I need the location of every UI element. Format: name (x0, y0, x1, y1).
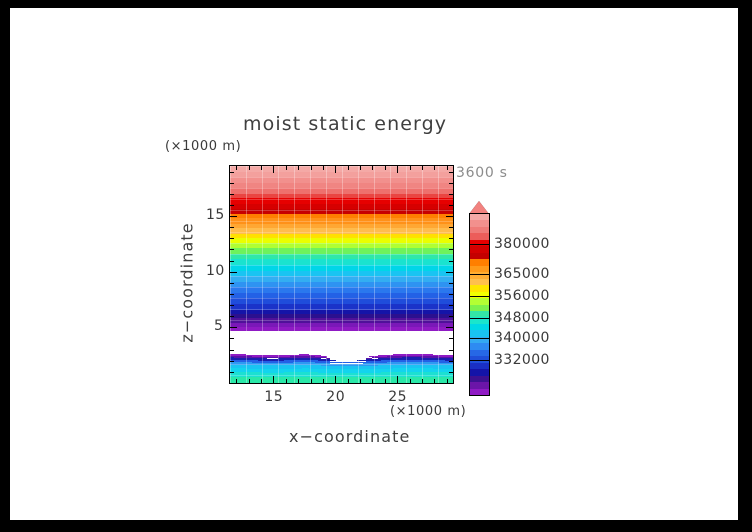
y-axis-tick (230, 372, 234, 373)
x-axis-tick (434, 166, 435, 170)
x-axis-tick (249, 379, 250, 383)
x-axis-tick (422, 379, 423, 383)
colorbar-divider (469, 360, 490, 361)
x-tick-label: 20 (326, 389, 345, 405)
colorbar-tick-label: 340000 (494, 330, 550, 346)
x-axis-tick (286, 379, 287, 383)
y-axis-title: z−coordinate (178, 222, 197, 342)
y-axis-tick (449, 205, 453, 206)
y-axis-tick (449, 372, 453, 373)
y-axis-tick (446, 272, 453, 273)
y-axis-tick (230, 350, 234, 351)
timestamp-annotation: 3600 s (456, 165, 508, 181)
x-axis-tick (385, 166, 386, 170)
y-axis-tick (230, 238, 234, 239)
x-axis-tick (410, 166, 411, 170)
y-axis-tick (449, 249, 453, 250)
figure-frame: moist static energy (×1000 m) (×1000 m) … (0, 0, 752, 532)
y-axis-tick (449, 183, 453, 184)
y-axis-tick (449, 383, 453, 384)
y-axis-tick (449, 172, 453, 173)
y-axis-tick (449, 227, 453, 228)
y-axis-tick (230, 261, 234, 262)
y-axis-tick (446, 327, 453, 328)
x-axis-tick (273, 166, 274, 173)
x-axis-tick (311, 379, 312, 383)
x-axis-tick (249, 166, 250, 170)
y-axis-tick (230, 283, 234, 284)
x-axis-tick (360, 379, 361, 383)
x-tick-label: 25 (388, 389, 407, 405)
y-tick-label: 5 (214, 318, 223, 334)
colorbar-tick-label: 365000 (494, 266, 550, 282)
x-axis-tick (323, 379, 324, 383)
x-axis-tick (397, 376, 398, 383)
y-axis-tick (449, 283, 453, 284)
y-axis-tick (230, 216, 237, 217)
x-axis-tick (397, 166, 398, 173)
y-tick-label: 15 (206, 207, 225, 223)
colorbar-tick-label: 348000 (494, 310, 550, 326)
x-axis-tick (447, 379, 448, 383)
colorbar-tick-label: 332000 (494, 352, 550, 368)
x-axis-tick (348, 379, 349, 383)
y-axis-tick (230, 361, 234, 362)
x-axis-tick (273, 376, 274, 383)
y-tick-label: 10 (206, 263, 225, 279)
y-axis-tick (449, 194, 453, 195)
x-axis-units-label: (×1000 m) (390, 404, 466, 419)
y-axis-tick (230, 172, 234, 173)
y-axis-tick (230, 383, 234, 384)
x-axis-tick (447, 166, 448, 170)
y-axis-tick (449, 238, 453, 239)
x-axis-tick (434, 379, 435, 383)
x-axis-tick (311, 166, 312, 170)
y-axis-tick (230, 305, 234, 306)
y-axis-units-label: (×1000 m) (165, 139, 241, 154)
x-axis-tick (335, 166, 336, 173)
y-axis-tick (230, 338, 234, 339)
colorbar-divider (469, 244, 490, 245)
contour-plot-area (229, 165, 454, 384)
x-axis-tick (286, 166, 287, 170)
figure-canvas: moist static energy (×1000 m) (×1000 m) … (10, 8, 738, 520)
colorbar-tick-label: 356000 (494, 288, 550, 304)
x-axis-tick (236, 379, 237, 383)
colorbar[interactable] (469, 213, 490, 396)
y-axis-tick (449, 261, 453, 262)
y-axis-tick (230, 227, 234, 228)
x-axis-tick (410, 379, 411, 383)
x-axis-tick (298, 379, 299, 383)
colorbar-divider (469, 274, 490, 275)
y-axis-tick (449, 305, 453, 306)
x-tick-label: 15 (264, 389, 283, 405)
y-axis-tick (446, 216, 453, 217)
x-axis-tick (422, 166, 423, 170)
colorbar-divider (469, 318, 490, 319)
boundary-layer-band (230, 166, 453, 383)
y-axis-tick (230, 249, 234, 250)
y-axis-tick (449, 350, 453, 351)
y-axis-tick (230, 183, 234, 184)
y-axis-tick (230, 316, 234, 317)
x-axis-tick (261, 166, 262, 170)
y-axis-tick (449, 294, 453, 295)
x-axis-tick (372, 166, 373, 170)
y-axis-tick (230, 205, 234, 206)
colorbar-divider (469, 338, 490, 339)
x-axis-tick (298, 166, 299, 170)
y-axis-tick (230, 327, 237, 328)
x-axis-tick (236, 166, 237, 170)
colorbar-divider (469, 296, 490, 297)
y-axis-tick (449, 338, 453, 339)
y-axis-tick (449, 316, 453, 317)
page-title: moist static energy (243, 113, 447, 135)
colorbar-segment (470, 389, 489, 396)
y-axis-tick (230, 272, 237, 273)
x-axis-tick (335, 376, 336, 383)
colorbar-tick-label: 380000 (494, 236, 550, 252)
x-axis-title: x−coordinate (289, 427, 410, 446)
x-axis-tick (261, 379, 262, 383)
y-axis-tick (230, 294, 234, 295)
x-axis-tick (323, 166, 324, 170)
y-axis-tick (230, 194, 234, 195)
y-axis-tick (449, 361, 453, 362)
x-axis-tick (372, 379, 373, 383)
x-axis-tick (385, 379, 386, 383)
x-axis-tick (348, 166, 349, 170)
x-axis-tick (360, 166, 361, 170)
